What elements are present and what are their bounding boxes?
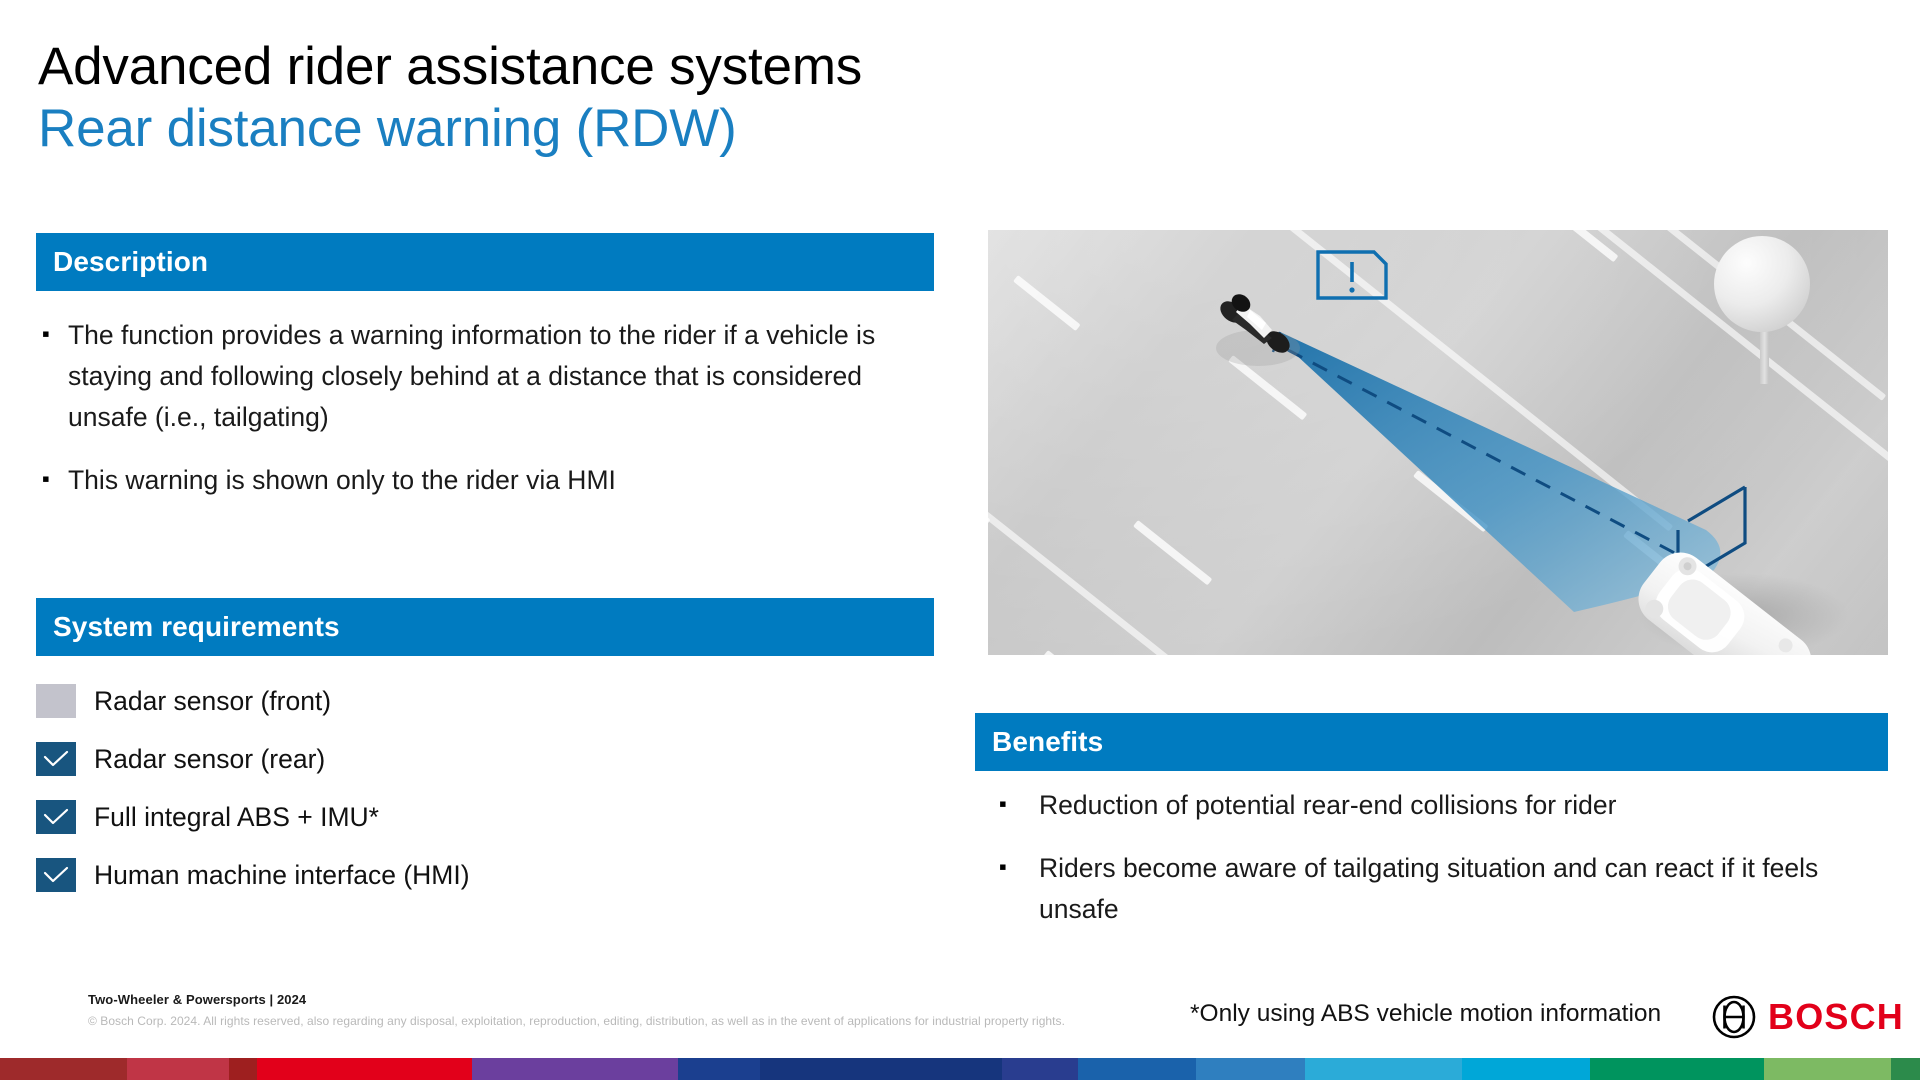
footer-meta: Two-Wheeler & Powersports | 2024 © Bosch… — [88, 992, 1065, 1028]
checkbox-checked-icon[interactable] — [36, 742, 76, 776]
requirement-label-radar-front: Radar sensor (front) — [94, 684, 331, 718]
list-item: Radar sensor (front) — [36, 672, 836, 730]
list-item: This warning is shown only to the rider … — [36, 460, 926, 501]
footer-business-unit: Two-Wheeler & Powersports | 2024 — [88, 992, 1065, 1007]
supergraphic-segment — [1462, 1058, 1589, 1080]
supergraphic-segment — [1764, 1058, 1891, 1080]
title-line-1: Advanced rider assistance systems — [38, 36, 862, 98]
description-bullet-1: The function provides a warning informat… — [68, 315, 926, 438]
list-item: Human machine interface (HMI) — [36, 846, 836, 904]
list-item: Reduction of potential rear-end collisio… — [975, 785, 1895, 826]
checkbox-checked-icon[interactable] — [36, 800, 76, 834]
list-item: Riders become aware of tailgating situat… — [975, 848, 1895, 930]
section-header-description: Description — [36, 233, 934, 291]
supergraphic-segment — [1891, 1058, 1920, 1080]
description-bullet-list: The function provides a warning informat… — [36, 315, 926, 523]
supergraphic-segment — [760, 1058, 1002, 1080]
list-item: Full integral ABS + IMU* — [36, 788, 836, 846]
illustration-rear-distance-warning — [988, 230, 1888, 655]
square-bullet-icon — [999, 848, 1025, 887]
bosch-wordmark: BOSCH — [1768, 995, 1904, 1039]
supergraphic-segment — [678, 1058, 760, 1080]
supergraphic-segment — [1196, 1058, 1305, 1080]
supergraphic-segment — [257, 1058, 472, 1080]
supergraphic-segment — [1002, 1058, 1079, 1080]
section-header-system-requirements-label: System requirements — [36, 611, 340, 643]
supergraphic-segment — [1078, 1058, 1195, 1080]
requirement-label-hmi: Human machine interface (HMI) — [94, 858, 470, 892]
list-item: Radar sensor (rear) — [36, 730, 836, 788]
bosch-supergraphic-bar — [0, 1058, 1920, 1080]
section-header-system-requirements: System requirements — [36, 598, 934, 656]
requirement-label-abs-imu: Full integral ABS + IMU* — [94, 800, 379, 834]
supergraphic-segment — [0, 1058, 127, 1080]
system-requirements-list: Radar sensor (front) Radar sensor (rear)… — [36, 672, 836, 904]
section-header-benefits-label: Benefits — [975, 726, 1103, 758]
supergraphic-segment — [472, 1058, 679, 1080]
radar-detection-graphics — [988, 230, 1888, 655]
bosch-anchor-icon — [1712, 995, 1756, 1039]
requirement-label-radar-rear: Radar sensor (rear) — [94, 742, 325, 776]
title-line-2: Rear distance warning (RDW) — [38, 98, 862, 160]
section-header-description-label: Description — [36, 246, 208, 278]
supergraphic-segment — [1305, 1058, 1462, 1080]
detection-bracket-top — [1688, 487, 1745, 521]
checkbox-checked-icon[interactable] — [36, 858, 76, 892]
checkbox-unchecked-icon[interactable] — [36, 684, 76, 718]
page-title: Advanced rider assistance systems Rear d… — [38, 36, 862, 160]
square-bullet-icon — [42, 460, 68, 499]
description-bullet-2: This warning is shown only to the rider … — [68, 460, 616, 501]
supergraphic-segment — [229, 1058, 257, 1080]
square-bullet-icon — [999, 785, 1025, 824]
supergraphic-segment — [1590, 1058, 1764, 1080]
supergraphic-segment — [127, 1058, 228, 1080]
benefits-bullet-list: Reduction of potential rear-end collisio… — [975, 785, 1895, 952]
footnote-text: *Only using ABS vehicle motion informati… — [1190, 1000, 1661, 1028]
square-bullet-icon — [42, 315, 68, 354]
footer-copyright: © Bosch Corp. 2024. All rights reserved,… — [88, 1014, 1065, 1028]
section-header-benefits: Benefits — [975, 713, 1888, 771]
motorcycle-rider — [1216, 291, 1300, 366]
list-item: The function provides a warning informat… — [36, 315, 926, 438]
warning-badge-icon — [1318, 252, 1386, 298]
slide-root: Advanced rider assistance systems Rear d… — [0, 0, 1920, 1080]
benefit-bullet-1: Reduction of potential rear-end collisio… — [1025, 785, 1616, 826]
benefit-bullet-2: Riders become aware of tailgating situat… — [1025, 848, 1895, 930]
bosch-logo: BOSCH — [1712, 995, 1904, 1039]
